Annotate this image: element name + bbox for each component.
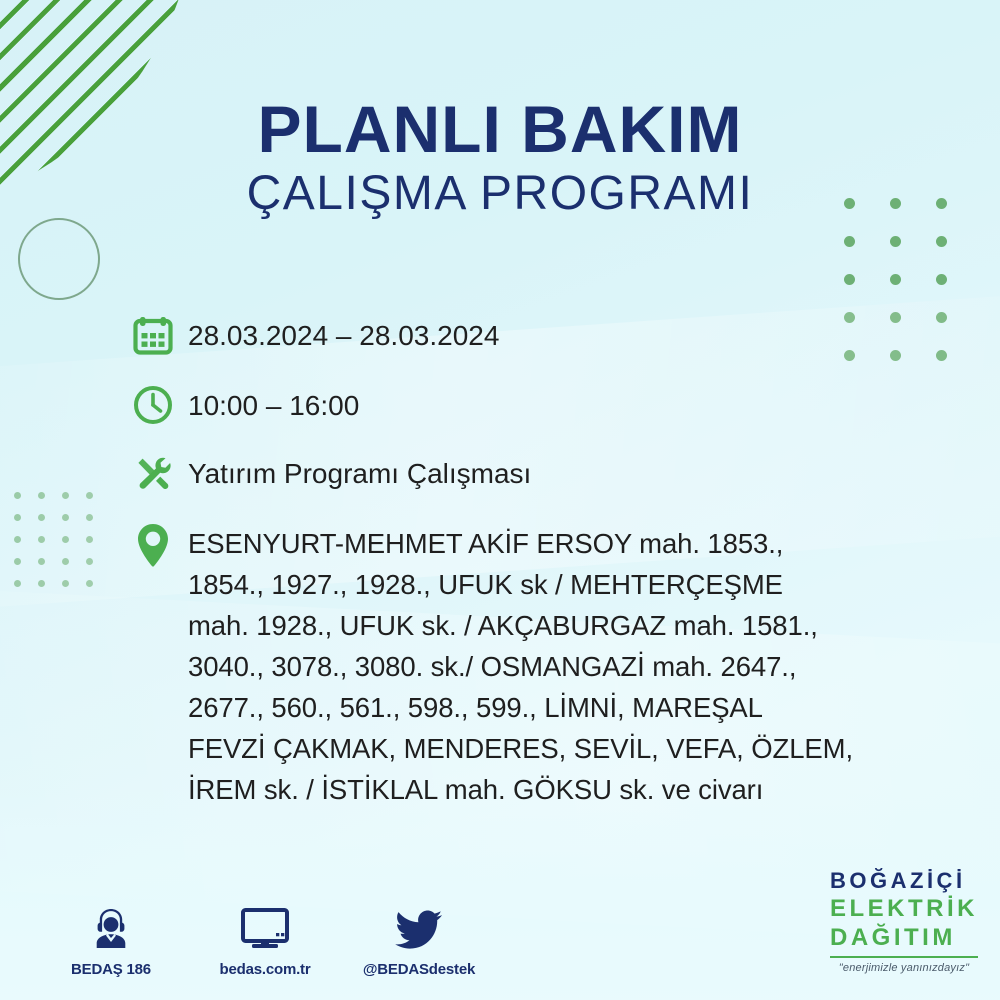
outline-circle-decoration — [18, 218, 100, 300]
contact-label-twitter: @BEDASdestek — [363, 961, 475, 978]
dot-grid-left-decoration — [14, 492, 110, 602]
contact-label-call-center: BEDAŞ 186 — [71, 961, 151, 978]
poster-header: PLANLI BAKIM ÇALIŞMA PROGRAMI — [0, 96, 1000, 220]
twitter-bird-icon — [395, 899, 443, 951]
poster-footer: BEDAŞ 186 bedas.com.tr — [0, 850, 1000, 1000]
page-title: PLANLI BAKIM — [0, 96, 1000, 163]
outage-details: 28.03.2024 – 28.03.2024 10:00 – 16:00 — [132, 312, 942, 811]
support-agent-icon — [89, 899, 133, 951]
contact-website[interactable]: bedas.com.tr — [206, 899, 324, 978]
outage-date-range: 28.03.2024 – 28.03.2024 — [188, 312, 499, 356]
logo-line-bogazici: BOĞAZİÇİ — [830, 870, 978, 892]
tools-icon — [132, 450, 188, 498]
detail-row-location: ESENYURT-MEHMET AKİF ERSOY mah. 1853., 1… — [132, 520, 942, 811]
logo-divider — [830, 956, 978, 958]
calendar-icon — [132, 312, 188, 360]
logo-tagline: "enerjimizle yanınızdayız" — [830, 963, 978, 974]
company-logo: BOĞAZİÇİ ELEKTRİK DAĞITIM "enerjimizle y… — [830, 870, 978, 974]
outage-address-list: ESENYURT-MEHMET AKİF ERSOY mah. 1853., 1… — [188, 520, 853, 811]
page-subtitle: ÇALIŞMA PROGRAMI — [0, 169, 1000, 219]
detail-row-date: 28.03.2024 – 28.03.2024 — [132, 312, 942, 360]
outage-time-range: 10:00 – 16:00 — [188, 382, 359, 426]
contact-label-website: bedas.com.tr — [220, 961, 311, 978]
monitor-icon — [240, 899, 290, 951]
map-pin-icon — [132, 520, 188, 568]
logo-line-dagitim: DAĞITIM — [830, 926, 978, 950]
contact-call-center[interactable]: BEDAŞ 186 — [52, 899, 170, 978]
planned-maintenance-poster: PLANLI BAKIM ÇALIŞMA PROGRAMI 28.03.2024… — [0, 0, 1000, 1000]
logo-line-elektrik: ELEKTRİK — [830, 897, 978, 921]
contact-channels: BEDAŞ 186 bedas.com.tr — [52, 899, 478, 978]
detail-row-time: 10:00 – 16:00 — [132, 382, 942, 430]
outage-work-type: Yatırım Programı Çalışması — [188, 450, 531, 494]
contact-twitter[interactable]: @BEDASdestek — [360, 899, 478, 978]
clock-icon — [132, 382, 188, 430]
detail-row-work-type: Yatırım Programı Çalışması — [132, 450, 942, 498]
